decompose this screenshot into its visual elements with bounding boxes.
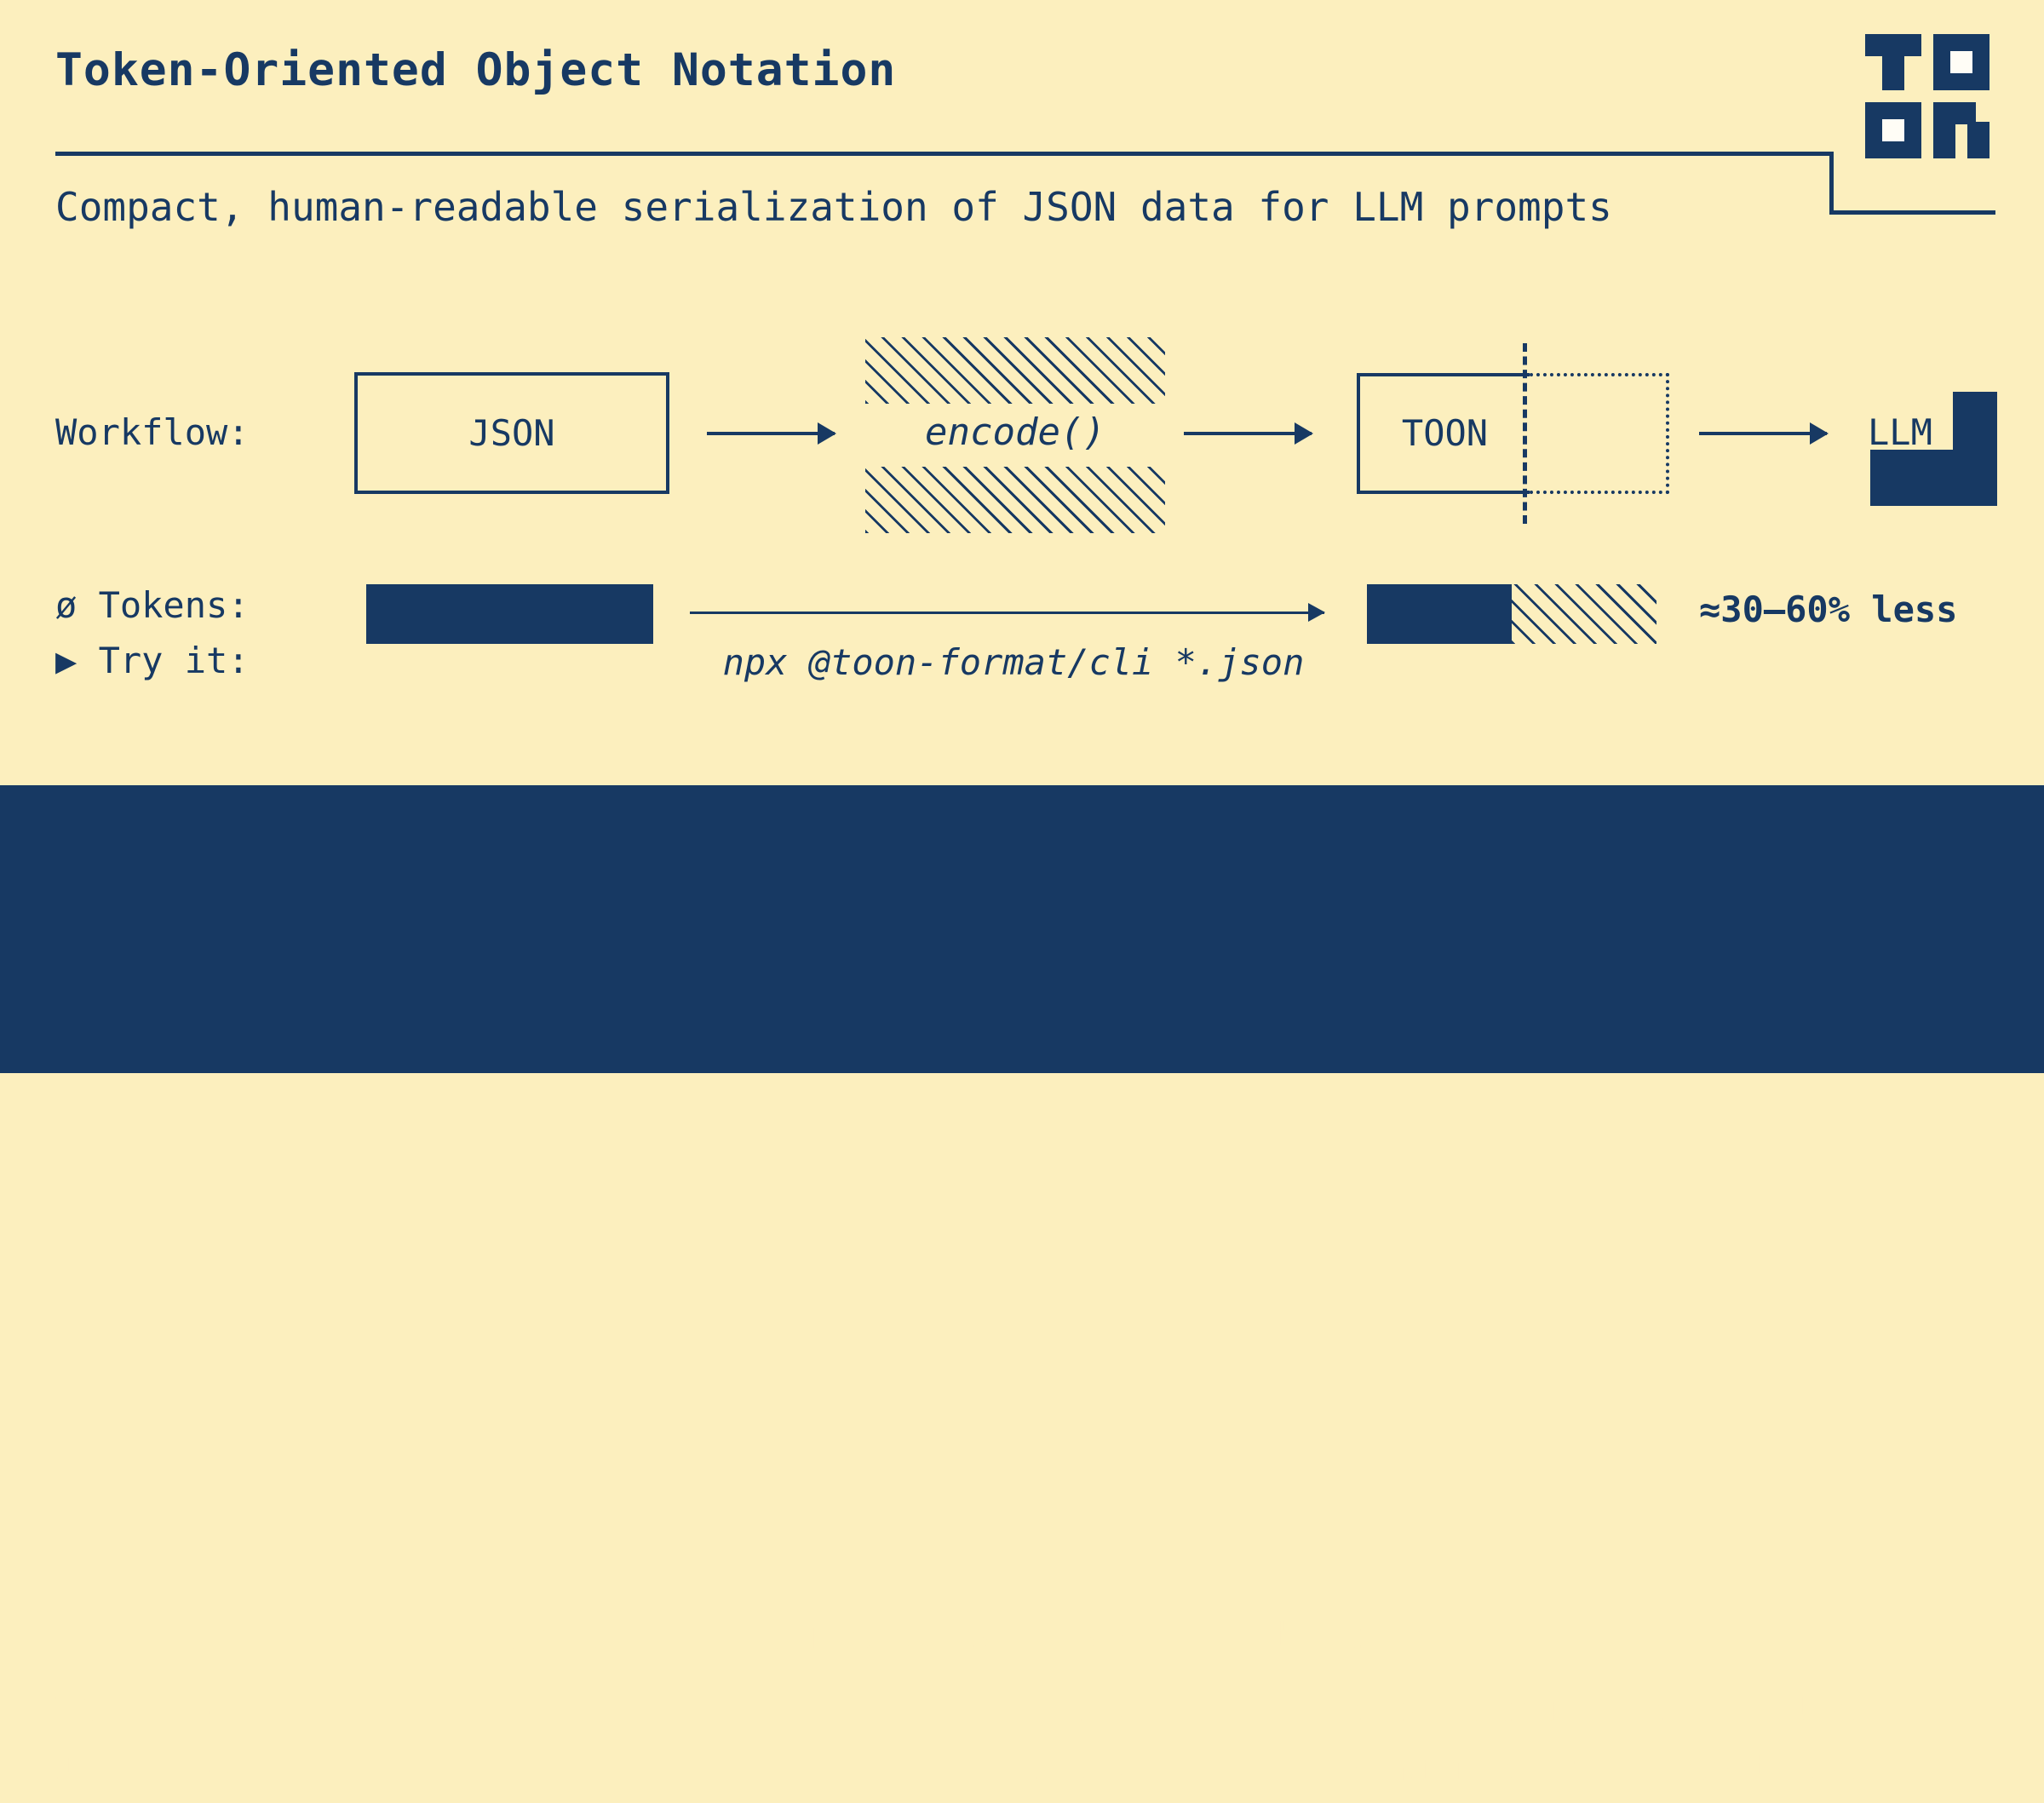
header-rule-horizontal <box>55 152 1834 156</box>
fieldset-best-for-right-edge <box>1988 1637 1991 1803</box>
tokens-bar-toon-solid <box>1367 584 1512 644</box>
logo-letter-t <box>1865 34 1921 56</box>
workflow-label: Workflow: <box>55 415 250 451</box>
workflow-arrow-1 <box>707 432 835 435</box>
comparison-panel: TOON → JSON → avg tokens retrieval accur… <box>0 785 2044 1073</box>
fieldset-best-for-top-right <box>1409 1637 1991 1640</box>
best-for-line-2: varying fields • deep trees <box>1277 1750 1859 1786</box>
fieldset-retrieval-right-edge <box>1225 1637 1228 1803</box>
fieldset-best-for-legend: best for <box>1277 1618 1450 1654</box>
fieldset-avg-tokens-top-right <box>630 1637 688 1640</box>
panel-row-label-json: JSON <box>55 1751 141 1787</box>
cli-command[interactable]: npx @toon-format/cli *.json <box>690 645 1337 680</box>
header-rule-vertical <box>1829 152 1834 215</box>
workflow-node-json: JSON <box>354 372 669 494</box>
toon-logo <box>1865 34 1997 158</box>
encode-hatch-bottom <box>865 467 1165 533</box>
panel-row-arrow-json: → <box>209 1751 230 1787</box>
fieldset-retrieval-top-right <box>1165 1637 1228 1640</box>
workflow-node-encode-label: encode() <box>865 414 1165 451</box>
header-rule-horizontal-lower <box>1829 210 1995 215</box>
logo-letter-t-stem <box>1882 56 1904 90</box>
tokens-comparison-arrow <box>690 612 1324 614</box>
page-subtitle: Compact, human-readable serialization of… <box>55 187 1612 227</box>
workflow-arrow-3 <box>1699 432 1827 435</box>
workflow-node-toon: TOON <box>1357 373 1530 494</box>
logo-letter-o-top-hole <box>1950 51 1972 73</box>
fieldset-avg-tokens-legend: avg tokens <box>397 1618 612 1654</box>
fieldset-best-for-left-edge <box>1233 1637 1237 1803</box>
tokens-bar-toon-hatched <box>1512 584 1656 644</box>
workflow-node-llm-label: LLM <box>1868 415 1932 451</box>
retrieval-arrow-toon <box>763 1707 933 1714</box>
fieldset-avg-tokens-right-edge <box>685 1637 688 1803</box>
llm-accent-block-horizontal <box>1870 450 1996 506</box>
tokens-bar-json <box>366 584 653 644</box>
fieldset-retrieval-accuracy: retrieval accuracy <box>692 1637 1228 1803</box>
workflow-arrow-2 <box>1184 432 1312 435</box>
panel-bar-toon-hatched <box>509 1680 653 1739</box>
logo-letter-o-bottom-hole <box>1882 119 1904 141</box>
retrieval-arrow-json <box>763 1765 910 1772</box>
panel-bar-toon-solid <box>366 1680 509 1739</box>
workflow-node-json-label: JSON <box>358 376 666 491</box>
panel-row-label-toon: TOON <box>55 1692 141 1728</box>
page-title: Token-Oriented Object Notation <box>55 48 896 93</box>
retrieval-value-toon: 73.9% <box>1009 1691 1122 1729</box>
retrieval-value-json: 69.7% <box>1009 1749 1122 1787</box>
logo-letter-n-right <box>1967 122 1989 158</box>
tokens-label: ø Tokens: <box>55 588 250 623</box>
workflow-node-toon-extension <box>1530 373 1669 494</box>
panel-bar-json <box>366 1739 653 1800</box>
encode-hatch-top <box>865 337 1165 404</box>
workflow-node-toon-label: TOON <box>1360 376 1530 491</box>
try-it-label: ▶ Try it: <box>55 643 250 679</box>
fieldset-avg-tokens-top-left <box>330 1637 387 1640</box>
fieldset-retrieval-left-edge <box>692 1637 695 1803</box>
tokens-savings-label: ≈30–60% less <box>1699 592 1957 628</box>
panel-row-arrow-toon: → <box>209 1692 230 1728</box>
fieldset-avg-tokens-left-edge <box>330 1637 334 1803</box>
fieldset-retrieval-legend: retrieval accuracy <box>743 1618 1130 1654</box>
poster-canvas: Token-Oriented Object Notation Compact, … <box>0 0 2044 1073</box>
best-for-line-1: repeated structure • tables <box>1277 1691 1859 1727</box>
fieldset-best-for-top-left <box>1233 1637 1264 1640</box>
fieldset-retrieval-top-left <box>692 1637 732 1640</box>
